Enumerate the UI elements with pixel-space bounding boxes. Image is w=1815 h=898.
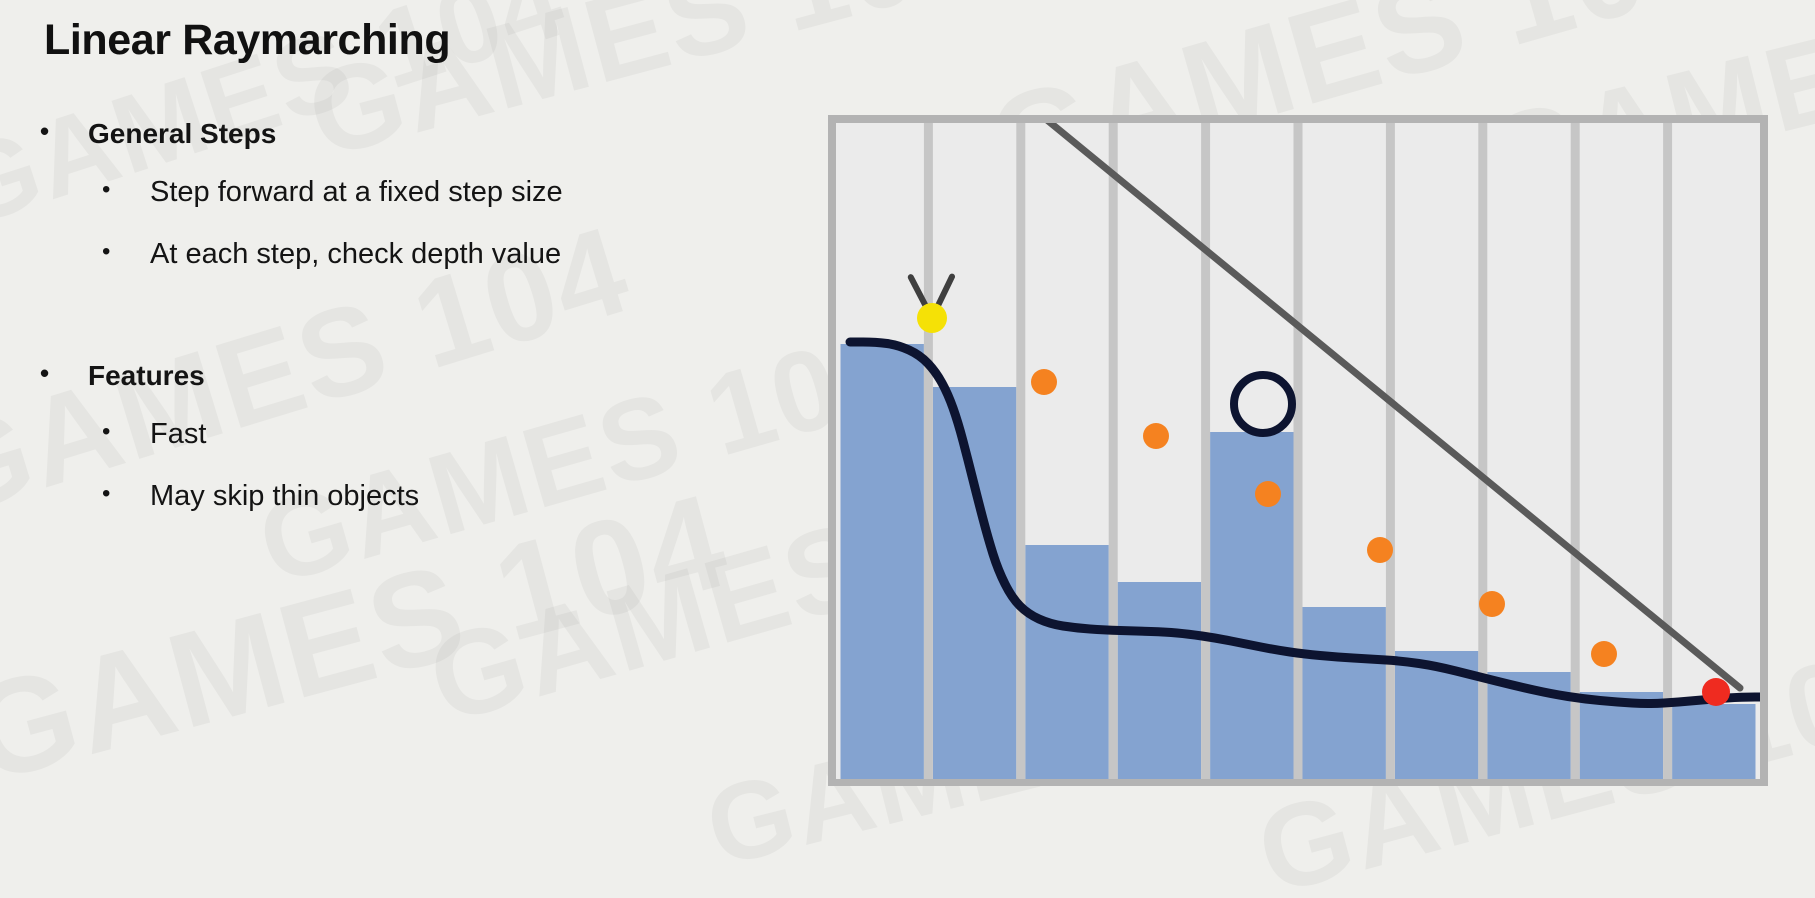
bullet-marker-icon: • <box>102 418 150 446</box>
depth-bar <box>1303 607 1386 779</box>
page-title: Linear Raymarching <box>44 16 450 65</box>
ray-step-dot <box>1479 591 1505 617</box>
bullet-item-step-forward: • Step forward at a fixed step size <box>40 176 740 238</box>
depth-bar <box>841 344 924 779</box>
column-separator <box>1201 123 1210 779</box>
column-separator <box>1571 123 1580 779</box>
bullet-item-general-steps: • General Steps <box>40 118 740 176</box>
ray-hit-dot <box>1702 678 1730 706</box>
column-separator <box>1109 123 1118 779</box>
bullet-marker-icon: • <box>40 360 88 387</box>
bullet-label: Features <box>88 360 205 392</box>
depth-bar <box>1025 545 1108 779</box>
bullet-item-features: • Features <box>40 360 740 418</box>
ray-step-dot <box>1591 641 1617 667</box>
bullet-marker-icon: • <box>102 176 150 204</box>
bullet-label: May skip thin objects <box>150 480 419 513</box>
column-separator <box>1294 123 1303 779</box>
depth-bar <box>1118 582 1201 779</box>
bullet-item-may-skip-thin-objects: • May skip thin objects <box>40 480 740 542</box>
bullet-list: • General Steps • Step forward at a fixe… <box>40 118 740 542</box>
column-separator <box>924 123 933 779</box>
bullet-marker-icon: • <box>102 238 150 266</box>
depth-bar <box>1672 704 1755 779</box>
ray-origin-dot <box>917 303 947 333</box>
section-spacer <box>40 300 740 360</box>
bullet-marker-icon: • <box>102 480 150 508</box>
slide-root: Linear Raymarching • General Steps • Ste… <box>0 0 1815 898</box>
ray-step-dot <box>1143 423 1169 449</box>
bullet-group-general-steps: • General Steps • Step forward at a fixe… <box>40 118 740 300</box>
bullet-item-fast: • Fast <box>40 418 740 480</box>
ray-step-dot <box>1031 369 1057 395</box>
bullet-label: Fast <box>150 418 206 451</box>
depth-bar <box>1210 432 1293 779</box>
bullet-item-check-depth: • At each step, check depth value <box>40 238 740 300</box>
column-separator <box>1016 123 1025 779</box>
ray-step-dot <box>1255 481 1281 507</box>
bullet-label: General Steps <box>88 118 276 150</box>
bullet-label: Step forward at a fixed step size <box>150 176 563 209</box>
diagram-canvas <box>826 114 1770 786</box>
bullet-label: At each step, check depth value <box>150 238 561 271</box>
column-separator <box>1663 123 1672 779</box>
linear-raymarching-diagram <box>826 114 1770 786</box>
column-separator <box>1386 123 1395 779</box>
ray-step-dot <box>1367 537 1393 563</box>
bullet-marker-icon: • <box>40 118 88 145</box>
bullet-group-features: • Features • Fast • May skip thin object… <box>40 360 740 542</box>
